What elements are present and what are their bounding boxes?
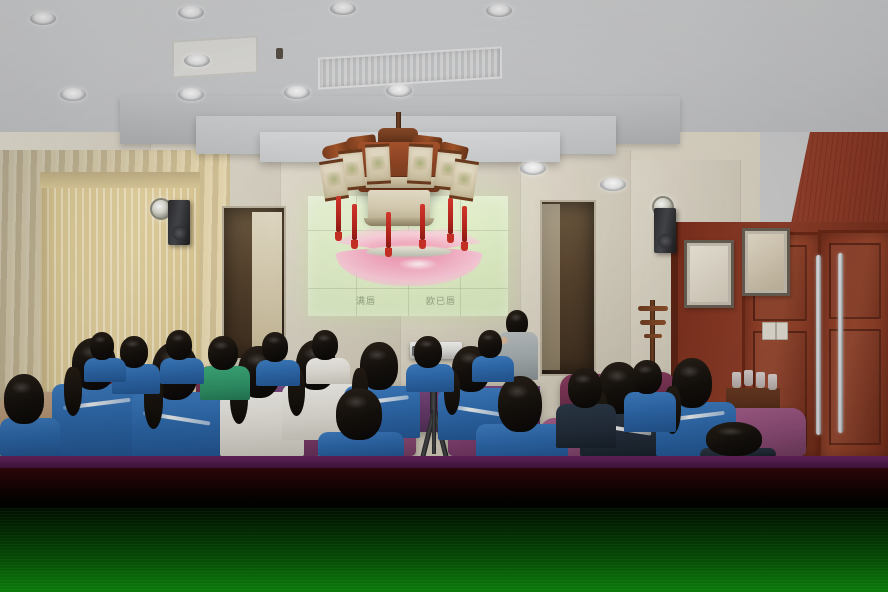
wall-speaker-left — [168, 200, 190, 245]
audience-hair-shine-7 — [506, 384, 529, 399]
audience-torso-21 — [406, 364, 454, 392]
tassel-6 — [462, 206, 467, 242]
corruption-band-purple — [0, 456, 888, 468]
audience-hair-shine-8 — [606, 369, 628, 383]
corruption-scanlines — [0, 508, 888, 592]
audience-torso-15 — [160, 358, 204, 384]
tassel-3 — [386, 212, 391, 248]
audience-torso-16 — [256, 360, 300, 386]
downlight-1 — [30, 12, 56, 25]
framed-picture-large — [742, 228, 790, 296]
screenshot-root: 满唇 欧已唇 — [0, 0, 888, 592]
water-bottle-4 — [768, 374, 777, 390]
water-bottle-2 — [744, 370, 753, 386]
door-right-leaf[interactable] — [818, 230, 888, 456]
tassel-2 — [352, 204, 357, 240]
downlight-5 — [60, 88, 86, 101]
audience-torso-13 — [200, 366, 250, 400]
door-handle-left[interactable] — [816, 255, 821, 435]
downlight-11 — [520, 162, 546, 175]
audience-hair-shine-13 — [213, 341, 229, 350]
audience-hair-shine-18 — [482, 334, 494, 341]
audience-torso-22 — [84, 358, 126, 382]
audience-torso-19 — [624, 392, 676, 432]
picture-canvas-large — [748, 234, 784, 290]
coat-rack-arm-1 — [638, 306, 668, 311]
picture-canvas-small — [690, 246, 728, 302]
lantern-shade-2 — [365, 143, 391, 184]
tassel-4 — [420, 204, 425, 240]
audience-hair-shine-11 — [11, 381, 32, 394]
conference-room-photo: 满唇 欧已唇 — [0, 0, 888, 456]
audience-hair-shine-14 — [125, 340, 140, 348]
audience-torso-20 — [556, 404, 616, 448]
coat-rack-arm-2 — [640, 320, 666, 325]
downlight-9 — [184, 54, 210, 67]
lip-highlight — [398, 258, 438, 270]
tassel-1 — [336, 196, 341, 232]
framed-picture-small — [684, 240, 734, 308]
audience-hair-shine-15 — [171, 334, 185, 342]
lips-graphic — [336, 224, 482, 286]
doorway-right-light — [542, 204, 560, 370]
audience-hair-shine-9 — [679, 365, 700, 378]
audience-ponytail-1 — [64, 367, 82, 416]
screen-label-left: 满唇 — [356, 294, 376, 307]
audience-hair-shine-10 — [716, 427, 745, 436]
door-panel-upper-2 — [829, 243, 881, 319]
screen-label-right: 欧已唇 — [426, 294, 456, 307]
downlight-3 — [330, 2, 356, 15]
audience-hair-shine-16 — [267, 336, 281, 344]
audience-torso-18 — [472, 356, 514, 382]
downlight-10 — [600, 178, 626, 191]
presenter-hair-shine — [510, 313, 522, 322]
water-bottle-1 — [732, 372, 741, 388]
corruption-band-green — [0, 508, 888, 592]
downlight-4 — [486, 4, 512, 17]
wall-switch-1[interactable] — [762, 322, 776, 340]
audience-hair-shine-20 — [574, 374, 592, 384]
audience-hair-shine-21 — [419, 340, 434, 348]
wall-switch-2[interactable] — [776, 322, 788, 340]
curtain-valance — [40, 172, 200, 188]
downlight-7 — [284, 86, 310, 99]
water-bottle-3 — [756, 372, 765, 388]
lantern-shade-3 — [407, 143, 433, 184]
door-handle-right[interactable] — [838, 253, 843, 433]
wall-speaker-right — [654, 208, 676, 253]
downlight-6 — [178, 88, 204, 101]
sprinkler-head — [276, 48, 283, 59]
audience-hair-shine-5 — [367, 349, 387, 361]
tripod-leg-3 — [432, 410, 436, 454]
audience-hair-shine-22 — [94, 336, 106, 343]
audience-torso-11 — [0, 418, 60, 456]
lip-opening — [366, 246, 452, 257]
door-panel-lower-2 — [829, 329, 881, 445]
doorway-right — [540, 200, 596, 376]
coat-rack-arm-3 — [644, 334, 662, 338]
audience-torso-17 — [306, 358, 350, 384]
audience-hair-shine-12 — [344, 395, 368, 409]
audience-hair-shine-19 — [637, 365, 653, 374]
corruption-band-dark — [0, 468, 888, 508]
downlight-8 — [386, 84, 412, 97]
screen-seam-h2 — [308, 288, 508, 289]
tassel-5 — [448, 198, 453, 234]
audience-hair-shine-17 — [317, 334, 331, 342]
downlight-2 — [178, 6, 204, 19]
